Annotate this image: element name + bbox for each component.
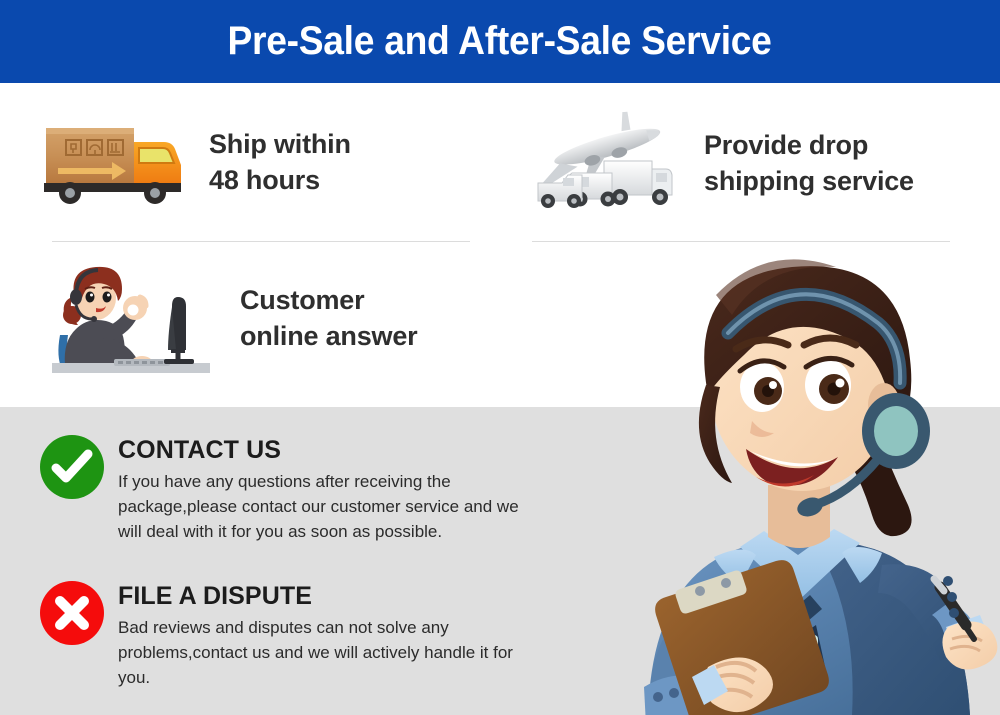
feature-ship-label: Ship within 48 hours	[209, 127, 351, 198]
header-banner: Pre-Sale and After-Sale Service	[0, 0, 1000, 83]
feature-drop-shipping: Provide drop shipping service	[530, 111, 914, 216]
check-circle-icon	[40, 435, 104, 499]
feature-drop-line2: shipping service	[704, 164, 914, 200]
notice-dispute-description: Bad reviews and disputes can not solve a…	[118, 616, 538, 690]
x-circle-icon	[40, 581, 104, 645]
feature-ship-within-48-hours: Ship within 48 hours	[42, 118, 351, 208]
feature-customer-online-answer: Customer online answer	[52, 263, 417, 375]
notice-dispute-body: FILE A DISPUTE Bad reviews and disputes …	[118, 581, 538, 690]
notice-contact-us: CONTACT US If you have any questions aft…	[40, 435, 600, 544]
delivery-truck-icon	[42, 118, 187, 208]
notice-contact-description: If you have any questions after receivin…	[118, 470, 538, 544]
notice-contact-body: CONTACT US If you have any questions aft…	[118, 435, 538, 544]
divider-left	[52, 241, 470, 242]
notice-contact-title: CONTACT US	[118, 437, 538, 463]
notice-file-a-dispute: FILE A DISPUTE Bad reviews and disputes …	[40, 581, 600, 690]
features-section: Ship within 48 hours	[0, 83, 1000, 407]
feature-drop-line1: Provide drop	[704, 128, 914, 164]
agent-at-desk-icon	[52, 263, 210, 375]
service-info-graphic: Pre-Sale and After-Sale Service	[0, 0, 1000, 715]
feature-cs-line1: Customer	[240, 283, 417, 319]
page-title: Pre-Sale and After-Sale Service	[228, 19, 772, 64]
divider-right	[532, 241, 950, 242]
feature-ship-line2: 48 hours	[209, 163, 351, 199]
airplane-and-trucks-icon	[530, 111, 690, 216]
notice-dispute-title: FILE A DISPUTE	[118, 583, 538, 609]
notices-section: CONTACT US If you have any questions aft…	[0, 407, 1000, 715]
feature-drop-label: Provide drop shipping service	[704, 128, 914, 199]
feature-cs-line2: online answer	[240, 319, 417, 355]
feature-cs-label: Customer online answer	[240, 283, 417, 354]
feature-ship-line1: Ship within	[209, 127, 351, 163]
